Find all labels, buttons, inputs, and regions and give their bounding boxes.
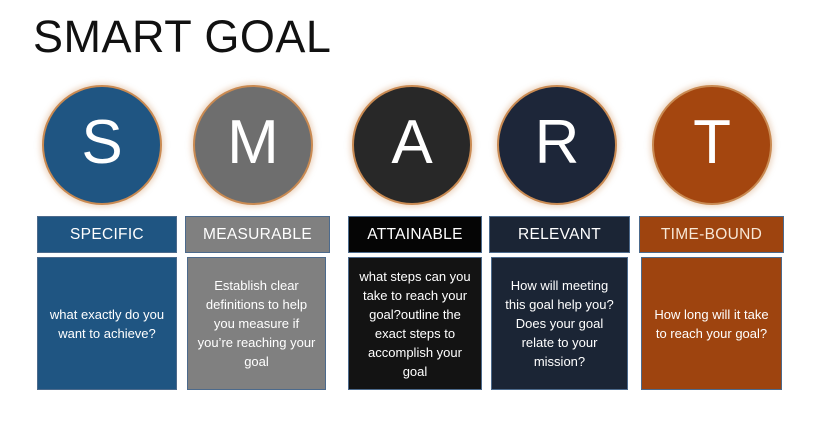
letter-circle-t: T bbox=[652, 85, 772, 205]
letter-circle-s: S bbox=[42, 85, 162, 205]
header-label-text: ATTAINABLE bbox=[367, 226, 462, 243]
body-box-measurable: Establish clear definitions to help you … bbox=[187, 257, 326, 390]
header-label-text: SPECIFIC bbox=[70, 226, 144, 243]
circle-letter-text: S bbox=[81, 112, 122, 174]
circle-letter-text: M bbox=[227, 112, 279, 174]
header-label-text: TIME-BOUND bbox=[661, 226, 762, 243]
header-bar-measurable: MEASURABLE bbox=[185, 216, 330, 253]
infographic-canvas: SMART GOAL S SPECIFIC what exactly do yo… bbox=[0, 0, 833, 425]
header-bar-attainable: ATTAINABLE bbox=[348, 216, 482, 253]
header-bar-time-bound: TIME-BOUND bbox=[639, 216, 784, 253]
body-box-specific: what exactly do you want to achieve? bbox=[37, 257, 177, 390]
page-title: SMART GOAL bbox=[33, 9, 331, 65]
letter-circle-r: R bbox=[497, 85, 617, 205]
header-bar-specific: SPECIFIC bbox=[37, 216, 177, 253]
header-label-text: RELEVANT bbox=[518, 226, 601, 243]
letter-circle-m: M bbox=[193, 85, 313, 205]
body-text: what exactly do you want to achieve? bbox=[46, 305, 168, 343]
circle-letter-text: T bbox=[693, 112, 731, 174]
circle-letter-text: R bbox=[535, 112, 580, 174]
body-box-relevant: How will meeting this goal help you?Does… bbox=[491, 257, 628, 390]
header-label-text: MEASURABLE bbox=[203, 226, 312, 243]
body-text: How will meeting this goal help you?Does… bbox=[500, 276, 619, 371]
body-text: what steps can you take to reach your go… bbox=[357, 267, 473, 381]
letter-circle-a: A bbox=[352, 85, 472, 205]
body-box-attainable: what steps can you take to reach your go… bbox=[348, 257, 482, 390]
circle-letter-text: A bbox=[391, 112, 432, 174]
body-text: Establish clear definitions to help you … bbox=[196, 276, 317, 371]
body-box-time-bound: How long will it take to reach your goal… bbox=[641, 257, 782, 390]
header-bar-relevant: RELEVANT bbox=[489, 216, 630, 253]
body-text: How long will it take to reach your goal… bbox=[650, 305, 773, 343]
